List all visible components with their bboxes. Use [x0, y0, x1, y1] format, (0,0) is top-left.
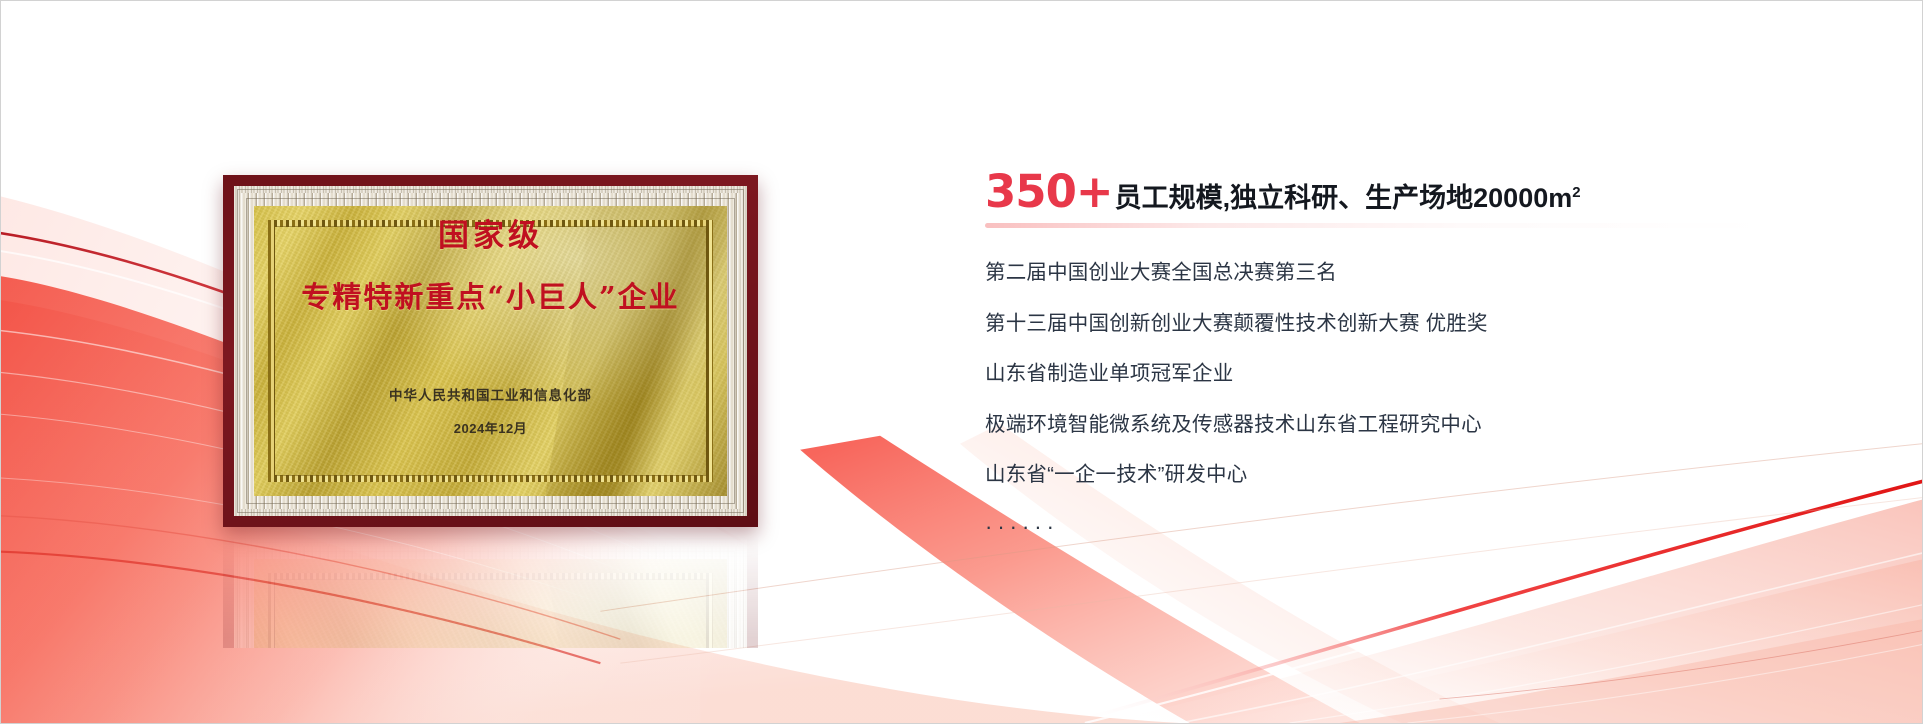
award-item: 山东省制造业单项冠军企业 [985, 364, 1865, 385]
award-item: 第二届中国创业大赛全国总决赛第三名 [985, 263, 1865, 284]
plaque-text-block: 国家级 专精特新重点“小巨人”企业 中华人民共和国工业和信息化部 2024年12… [223, 175, 758, 527]
plaque-reflection [223, 528, 758, 648]
award-plaque: 国家级 专精特新重点“小巨人”企业 中华人民共和国工业和信息化部 2024年12… [223, 175, 758, 527]
award-item: 第十三届中国创新创业大赛颠覆性技术创新大赛 优胜奖 [985, 314, 1865, 335]
headline-underline-rule [985, 223, 1767, 228]
award-list-more-indicator: ······ [985, 516, 1865, 538]
headline: 350+ 员工规模,独立科研、生产场地20000m 2 [985, 169, 1865, 214]
content-column: 350+ 员工规模,独立科研、生产场地20000m 2 第二届中国创业大赛全国总… [985, 169, 1865, 538]
headline-superscript: 2 [1572, 185, 1580, 200]
plaque-title-line-1: 国家级 [438, 219, 543, 253]
slide-canvas: 国家级 专精特新重点“小巨人”企业 中华人民共和国工业和信息化部 2024年12… [0, 0, 1923, 724]
plaque-date: 2024年12月 [454, 418, 527, 437]
plaque-title-line-2: 专精特新重点“小巨人”企业 [301, 274, 679, 316]
award-list: 第二届中国创业大赛全国总决赛第三名 第十三届中国创新创业大赛颠覆性技术创新大赛 … [985, 263, 1865, 486]
plaque-frame: 国家级 专精特新重点“小巨人”企业 中华人民共和国工业和信息化部 2024年12… [223, 175, 758, 527]
headline-metric-number: 350+ [985, 169, 1113, 214]
plaque-issuer: 中华人民共和国工业和信息化部 [389, 384, 592, 404]
headline-metric-text: 员工规模,独立科研、生产场地20000m [1115, 185, 1573, 212]
award-item: 山东省“一企一技术”研发中心 [985, 465, 1865, 486]
award-item: 极端环境智能微系统及传感器技术山东省工程研究中心 [985, 415, 1865, 436]
